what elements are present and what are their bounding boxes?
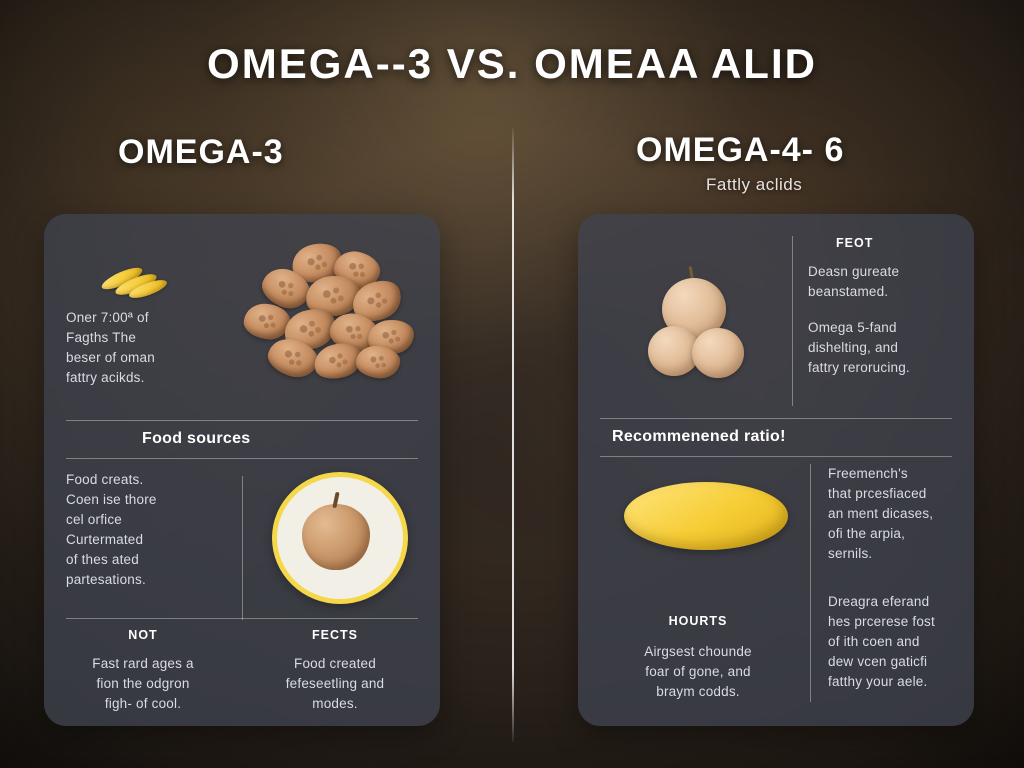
divider-footer-vertical bbox=[242, 476, 243, 620]
nut-pile-icon bbox=[240, 242, 418, 378]
section-title-hourts: HOURTS bbox=[600, 614, 796, 628]
divider-food-sources-top bbox=[66, 420, 418, 421]
divider-food-sources-bottom bbox=[66, 458, 418, 459]
section-title-not: NOT bbox=[66, 628, 220, 642]
section-title-food-sources: Food sources bbox=[142, 430, 251, 448]
infographic-canvas: OMEGA--3 VS. OMEAA ALID OMEGA-3 OMEGA-4-… bbox=[0, 0, 1024, 768]
omega3-footer-left-text: Fast rard ages a fion the odgron figh- o… bbox=[66, 654, 220, 714]
section-title-recommended-ratio: Recommenened ratio! bbox=[612, 428, 786, 446]
omega3-footer-right-text: Food created fefeseetling and modes. bbox=[252, 654, 418, 714]
omega3-intro-text: Oner 7:00ª of Fagths The beser of oman f… bbox=[66, 308, 216, 388]
yellow-pill-icon bbox=[616, 470, 796, 566]
peach-stack-icon bbox=[634, 254, 764, 384]
divider-bottom-vertical bbox=[810, 464, 811, 702]
center-divider bbox=[512, 128, 514, 742]
divider-top-vertical bbox=[792, 236, 793, 406]
omega3-food-sources-text: Food creats. Coen ise thore cel orfice C… bbox=[66, 470, 216, 590]
omega6-top-text-1: Deasn gureate beanstamed. bbox=[808, 262, 958, 302]
column-subtitle-fatty-acids: Fattly aclids bbox=[706, 175, 802, 195]
section-title-fects: FECTS bbox=[252, 628, 418, 642]
omega6-ratio-text-1: Freemench's that prcesfiaced an ment dic… bbox=[828, 464, 964, 564]
capsule-icon bbox=[98, 256, 174, 300]
divider-ratio-bottom bbox=[600, 456, 952, 457]
panel-omega-3: Oner 7:00ª of Fagths The beser of oman f… bbox=[44, 214, 440, 726]
omega6-top-text-2: Omega 5-fand dishelting, and fattry rero… bbox=[808, 318, 960, 378]
section-title-feot: FEOT bbox=[836, 236, 873, 250]
panel-omega-6: FEOT Deasn gureate beanstamed. Omega 5-f… bbox=[578, 214, 974, 726]
divider-footer-top bbox=[66, 618, 418, 619]
page-title: OMEGA--3 VS. OMEAA ALID bbox=[0, 40, 1024, 88]
column-title-omega-6: OMEGA-4- 6 bbox=[636, 131, 844, 170]
omega6-ratio-text-2: Dreagra eferand hes prcerese fost of ith… bbox=[828, 592, 968, 692]
omega6-bottom-text: Airgsest chounde foar of gone, and braym… bbox=[600, 642, 796, 702]
apple-medallion-icon bbox=[264, 466, 410, 604]
divider-ratio-top bbox=[600, 418, 952, 419]
column-title-omega-3: OMEGA-3 bbox=[118, 133, 284, 172]
